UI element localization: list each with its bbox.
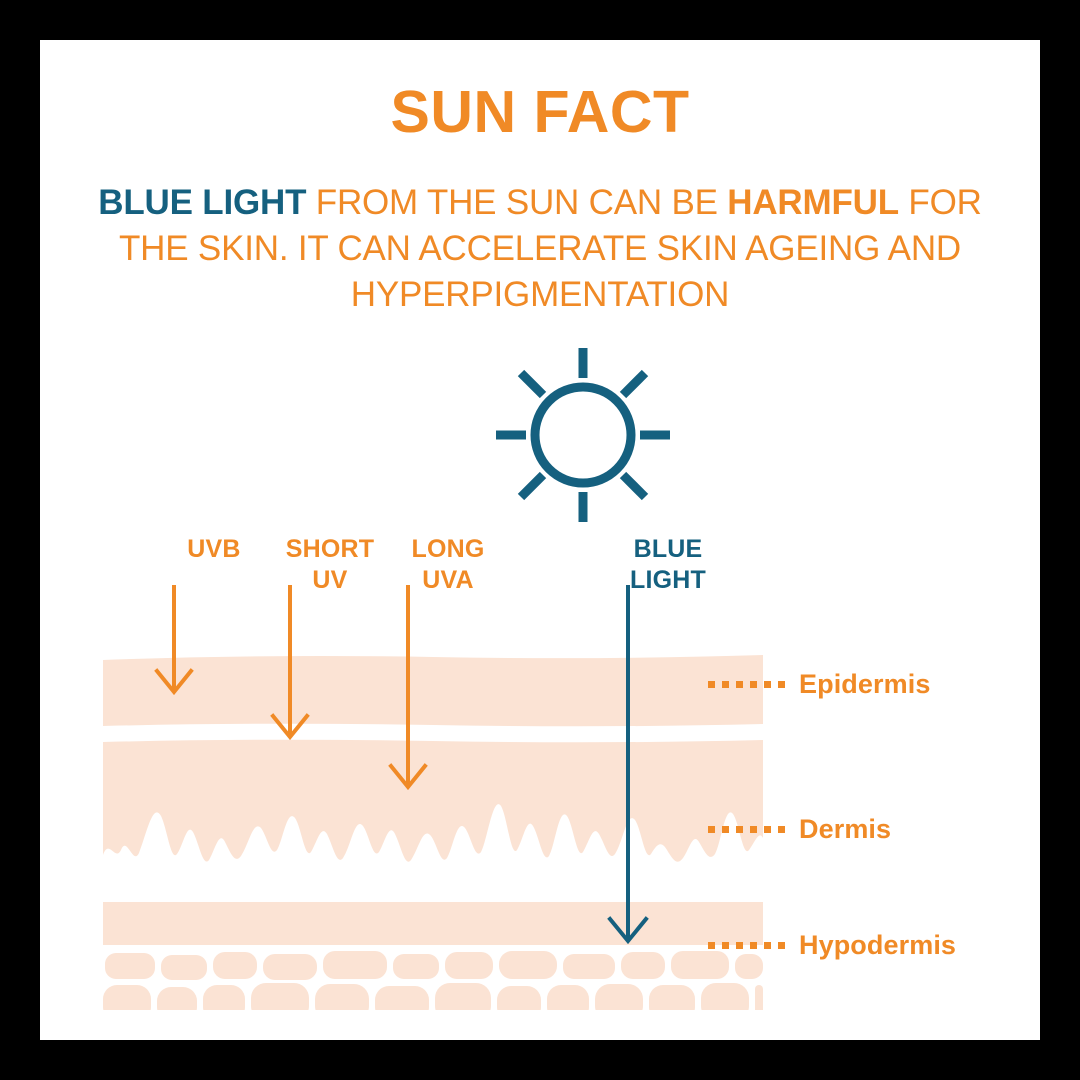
subtitle-blue-light: BLUE LIGHT <box>98 183 306 222</box>
leader-line-hypodermis <box>708 942 786 949</box>
ray-label-long-uva: LONG UVA <box>348 534 548 597</box>
ray-label-long-uva-line2: UVA <box>422 566 474 594</box>
subtitle: BLUE LIGHT FROM THE SUN CAN BE HARMFUL F… <box>90 180 990 319</box>
sun-icon <box>483 340 683 530</box>
epidermis-dermis-separator <box>103 724 763 743</box>
subtitle-mid-1: FROM THE SUN CAN BE <box>306 183 727 222</box>
subtitle-harmful: HARMFUL <box>727 183 899 222</box>
leader-line-epidermis <box>708 681 786 688</box>
callout-dermis: Dermis <box>708 812 891 846</box>
hypodermis-cells <box>103 951 763 1010</box>
layer-label-epidermis: Epidermis <box>799 669 930 700</box>
epidermis-band <box>103 655 763 731</box>
ray-label-blue-light-line1: BLUE <box>634 535 703 563</box>
ray-label-short-uv-line2: UV <box>312 566 347 594</box>
dermis-lower <box>103 902 763 945</box>
ray-label-blue-light-line2: LIGHT <box>630 566 706 594</box>
layer-label-hypodermis: Hypodermis <box>799 930 956 961</box>
ray-label-blue-light: BLUE LIGHT <box>568 534 768 597</box>
leader-line-dermis <box>708 826 786 833</box>
layer-label-dermis: Dermis <box>799 814 891 845</box>
skin-cross-section <box>103 610 763 1010</box>
infographic-canvas: SUN FACT BLUE LIGHT FROM THE SUN CAN BE … <box>40 40 1040 1040</box>
callout-epidermis: Epidermis <box>708 667 930 701</box>
ray-label-long-uva-line1: LONG <box>411 535 484 563</box>
page-title: SUN FACT <box>40 83 1040 142</box>
callout-hypodermis: Hypodermis <box>708 928 956 962</box>
